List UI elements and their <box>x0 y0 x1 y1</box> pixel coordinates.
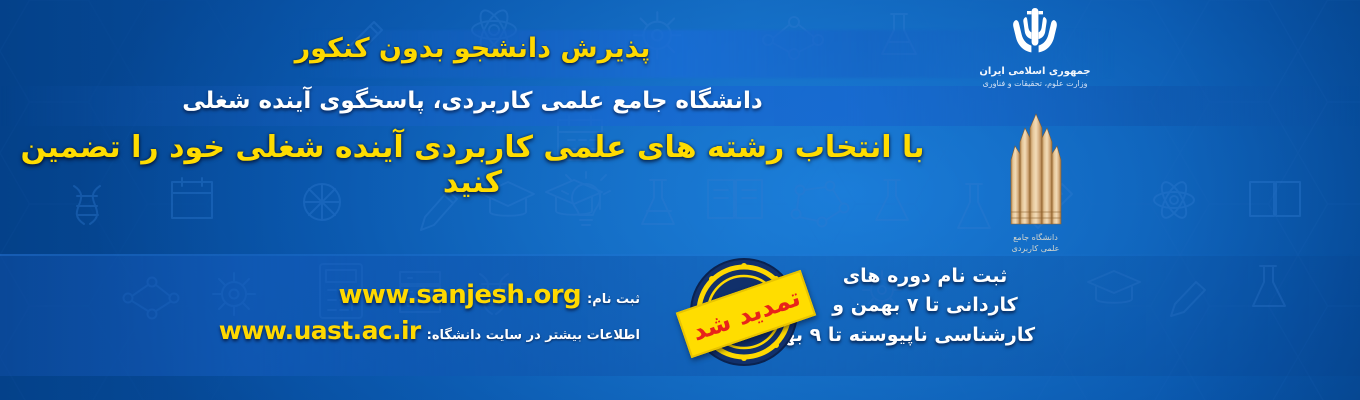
graduation-cap-icon <box>1088 271 1140 303</box>
government-logo-title: جمهوری اسلامی ایران <box>975 66 1095 77</box>
open-book-icon <box>1250 182 1300 216</box>
headline-block: پذیرش دانشجو بدون کنکور دانشگاه جامع علم… <box>0 0 945 256</box>
headline-tertiary: با انتخاب رشته های علمی کاربردی آینده شغ… <box>0 130 945 200</box>
flask-icon <box>1253 266 1285 306</box>
registration-url-uast[interactable]: www.uast.ac.ir <box>219 316 421 345</box>
deadline-line-2: کاردانی تا ۷ بهمن و <box>815 291 1035 320</box>
deadline-line-3: کارشناسی ناپیوسته تا ۹ بهمن <box>815 321 1035 350</box>
uast-logo-caption-1: دانشگاه جامع <box>978 233 1093 243</box>
government-logo-subtitle: وزارت علوم، تحقیقات و فناوری <box>975 79 1095 88</box>
iran-emblem-icon <box>999 4 1071 64</box>
gear-icon <box>213 273 255 315</box>
promotional-banner: پذیرش دانشجو بدون کنکور دانشگاه جامع علم… <box>0 0 1360 400</box>
headline-secondary: دانشگاه جامع علمی کاربردی، پاسخگوی آینده… <box>0 88 945 114</box>
extended-stamp: تمدید شد <box>688 256 800 368</box>
registration-url-sanjesh[interactable]: www.sanjesh.org <box>339 280 582 310</box>
registration-label-1: ثبت نام: <box>587 292 640 307</box>
deadline-line-1: ثبت نام دوره های <box>815 262 1035 291</box>
uast-logo: دانشگاه جامع علمی کاربردی <box>978 112 1093 254</box>
atom-icon <box>1154 179 1194 222</box>
registration-row-uast: اطلاعات بیشتر در سایت دانشگاه: www.uast.… <box>300 316 640 345</box>
government-logo: جمهوری اسلامی ایران وزارت علوم، تحقیقات … <box>975 4 1095 88</box>
registration-label-2: اطلاعات بیشتر در سایت دانشگاه: <box>427 328 640 343</box>
pencil-icon <box>1171 282 1205 316</box>
uast-flame-icon <box>1001 112 1071 232</box>
registration-info: ثبت نام: www.sanjesh.org اطلاعات بیشتر د… <box>300 280 640 351</box>
registration-row-sanjesh: ثبت نام: www.sanjesh.org <box>300 280 640 310</box>
deadline-block: ثبت نام دوره های کاردانی تا ۷ بهمن و کار… <box>815 262 1035 350</box>
molecule-icon <box>124 278 179 319</box>
headline-primary: پذیرش دانشجو بدون کنکور <box>0 33 945 64</box>
uast-logo-caption-2: علمی کاربردی <box>978 244 1093 254</box>
